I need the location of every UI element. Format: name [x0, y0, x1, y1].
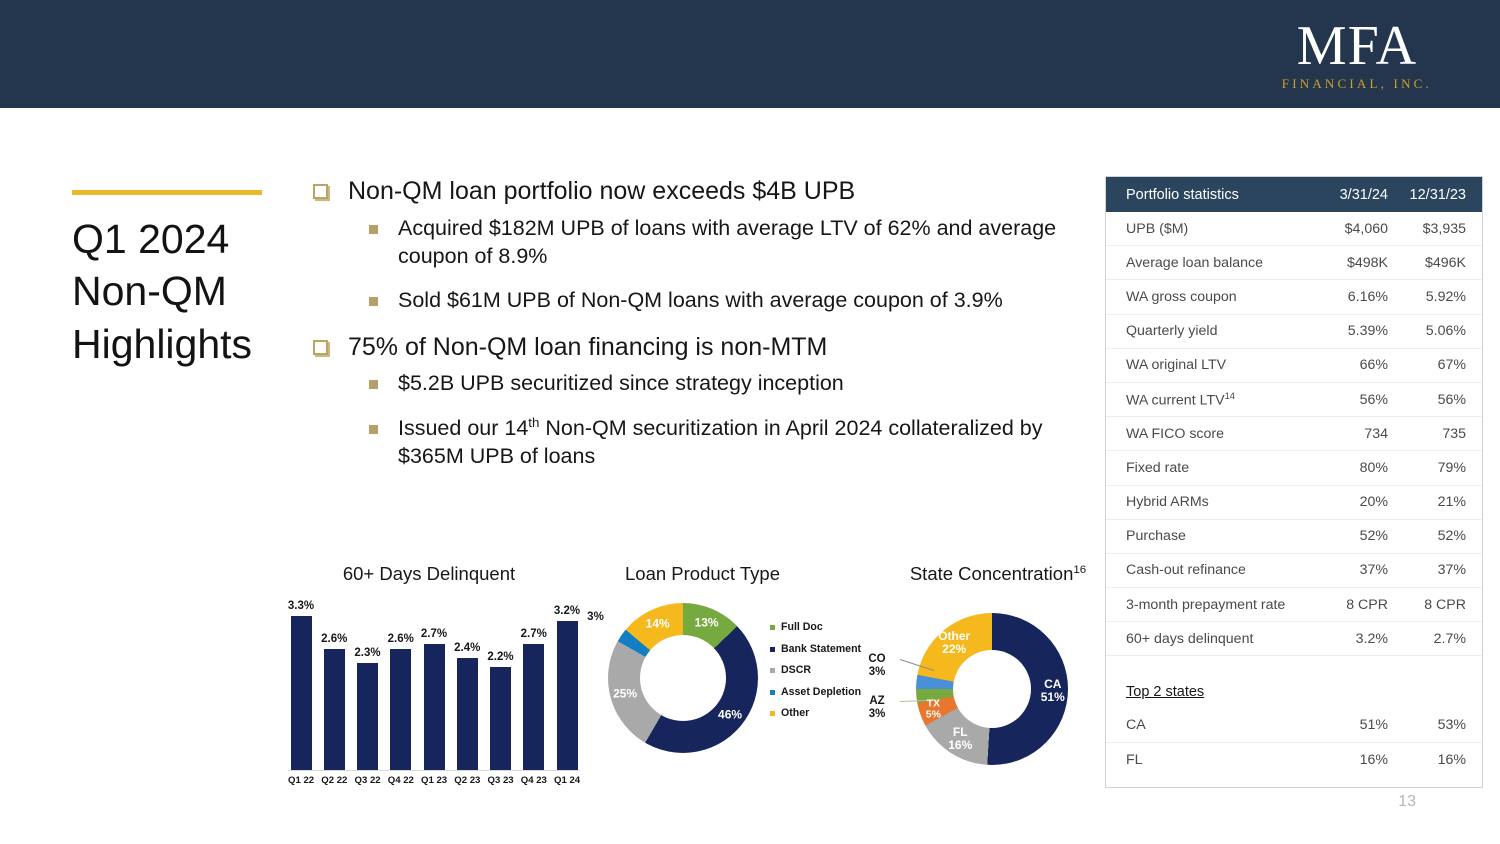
table-section-header: Top 2 states	[1106, 676, 1482, 708]
x-axis-tick-label: Q4 22	[388, 775, 414, 786]
row-value-prior: $496K	[1388, 255, 1466, 271]
row-label: 60+ days delinquent	[1126, 631, 1310, 647]
sub-bullet-group: Acquired $182M UPB of loans with average…	[369, 214, 1073, 315]
donut-slice-label: 46%	[718, 709, 742, 722]
row-value-current: $4,060	[1310, 221, 1388, 237]
legend-swatch-icon	[770, 625, 775, 630]
table-row: 3-month prepayment rate8 CPR8 CPR	[1106, 588, 1482, 622]
slide-root: MFA FINANCIAL, INC. Q1 2024 Non-QM Highl…	[0, 0, 1500, 844]
legend-label: DSCR	[781, 664, 811, 677]
row-value-prior: 53%	[1388, 717, 1466, 733]
row-value-prior: 52%	[1388, 528, 1466, 544]
table-header-row: Portfolio statistics 3/31/24 12/31/23	[1106, 177, 1482, 212]
table-header-label: Portfolio statistics	[1126, 187, 1310, 203]
donut-hole	[640, 635, 726, 721]
row-value-current: 80%	[1310, 460, 1388, 476]
table-row: WA gross coupon6.16%5.92%	[1106, 280, 1482, 314]
row-value-current: 20%	[1310, 494, 1388, 510]
table-row: Average loan balance$498K$496K	[1106, 246, 1482, 280]
page-title: Q1 2024 Non-QM Highlights	[72, 213, 302, 370]
x-axis-tick-label: Q1 23	[421, 775, 447, 786]
bar	[490, 667, 511, 770]
bar	[523, 644, 544, 770]
row-value-current: 16%	[1310, 752, 1388, 768]
row-value-current: 734	[1310, 426, 1388, 442]
bar-column: 3.3%	[288, 603, 314, 770]
table-header-col1: 3/31/24	[1310, 187, 1388, 203]
header-band	[0, 0, 1500, 108]
table-row: FL16%16%	[1106, 743, 1482, 777]
delinquency-bar-chart: 60+ Days Delinquent 3.3%2.6%2.3%2.6%2.7%…	[270, 555, 588, 805]
loan-product-type-chart: Loan Product Type Full DocBank Statement…	[590, 555, 880, 805]
donut-slice-label: 25%	[613, 687, 637, 700]
small-square-bullet-icon	[369, 297, 378, 306]
callout-co: CO3%	[858, 653, 896, 678]
bar-column: 2.7%	[421, 603, 447, 770]
row-value-prior: 5.06%	[1388, 323, 1466, 339]
row-label: Average loan balance	[1126, 255, 1310, 271]
table-row: WA current LTV1456%56%	[1106, 383, 1482, 417]
table-row: Quarterly yield5.39%5.06%	[1106, 315, 1482, 349]
issued-prefix: Issued our 14	[398, 416, 528, 440]
sub-bullet-item: Acquired $182M UPB of loans with average…	[369, 214, 1073, 271]
logo-tagline: FINANCIAL, INC.	[1282, 77, 1432, 90]
row-label: UPB ($M)	[1126, 221, 1310, 237]
x-axis-tick-label: Q3 23	[488, 775, 514, 786]
small-square-bullet-icon	[369, 380, 378, 389]
bar-chart-plot: 3.3%2.6%2.3%2.6%2.7%2.4%2.2%2.7%3.2%	[288, 603, 580, 771]
donut-slice-label: CA51%	[1041, 678, 1065, 704]
product-chart-title: Loan Product Type	[590, 563, 815, 585]
legend-swatch-icon	[770, 690, 775, 695]
x-axis-tick-label: Q2 22	[321, 775, 347, 786]
bar-chart-x-axis: Q1 22Q2 22Q3 22Q4 22Q1 23Q2 23Q3 23Q4 23…	[288, 775, 580, 786]
bar-column: 3.2%	[554, 603, 580, 770]
sub-bullet-group: $5.2B UPB securitized since strategy inc…	[369, 369, 1073, 470]
sub-bullet-item: $5.2B UPB securitized since strategy inc…	[369, 369, 1073, 397]
row-label: Purchase	[1126, 528, 1310, 544]
table-row: UPB ($M)$4,060$3,935	[1106, 212, 1482, 246]
bar-column: 2.6%	[321, 603, 347, 770]
row-value-current: 8 CPR	[1310, 597, 1388, 613]
donut-slice-label: Other22%	[938, 630, 970, 656]
row-value-prior: 67%	[1388, 357, 1466, 373]
small-square-bullet-icon	[369, 425, 378, 434]
table-row: Cash-out refinance37%37%	[1106, 554, 1482, 588]
section-label: Top 2 states	[1126, 684, 1466, 700]
legend-label: Bank Statement	[781, 643, 861, 656]
row-label: Quarterly yield	[1126, 323, 1310, 339]
row-value-prior: 2.7%	[1388, 631, 1466, 647]
row-value-prior: 5.92%	[1388, 289, 1466, 305]
donut-slice-label: 14%	[646, 617, 670, 630]
bar-value-label: 3.3%	[288, 600, 314, 612]
sub-bullet-text: Sold $61M UPB of Non-QM loans with avera…	[398, 286, 1003, 314]
page-title-line1: Q1 2024	[72, 213, 302, 265]
donut-slice-label: 3%	[587, 611, 604, 623]
row-label: WA current LTV14	[1126, 391, 1310, 409]
table-row: WA original LTV66%67%	[1106, 349, 1482, 383]
bar-value-label: 2.2%	[487, 651, 513, 663]
table-row: Purchase52%52%	[1106, 520, 1482, 554]
row-label: 3-month prepayment rate	[1126, 597, 1310, 613]
bar	[291, 616, 312, 770]
bar	[357, 663, 378, 770]
row-value-prior: 16%	[1388, 752, 1466, 768]
bar-column: 2.4%	[454, 603, 480, 770]
row-value-prior: 37%	[1388, 562, 1466, 578]
bar-value-label: 2.6%	[321, 633, 347, 645]
state-concentration-chart: State Concentration16 CO3% AZ3% CA51%FL1…	[870, 555, 1120, 805]
donut-slice-label: FL16%	[948, 726, 972, 752]
x-axis-tick-label: Q1 24	[554, 775, 580, 786]
row-label: FL	[1126, 752, 1310, 768]
sub-bullet-item: Issued our 14th Non-QM securitization in…	[369, 414, 1073, 471]
table-row: 60+ days delinquent3.2%2.7%	[1106, 622, 1482, 656]
bar-column: 2.6%	[388, 603, 414, 770]
portfolio-statistics-table: Portfolio statistics 3/31/24 12/31/23 UP…	[1105, 176, 1483, 788]
row-value-current: 66%	[1310, 357, 1388, 373]
state-chart-title-text: State Concentration	[910, 563, 1074, 584]
table-row: Hybrid ARMs20%21%	[1106, 486, 1482, 520]
page-number: 13	[1398, 793, 1416, 811]
state-chart-title: State Concentration16	[878, 563, 1118, 585]
legend-item: Full Doc	[770, 621, 875, 634]
bar-value-label: 2.4%	[454, 642, 480, 654]
bar	[424, 644, 445, 770]
state-chart-title-footnote: 16	[1073, 564, 1086, 576]
bar	[390, 649, 411, 770]
bar-value-label: 2.6%	[388, 633, 414, 645]
x-axis-tick-label: Q2 23	[454, 775, 480, 786]
table-header-col2: 12/31/23	[1388, 187, 1466, 203]
row-value-current: 56%	[1310, 392, 1388, 408]
legend-label: Asset Depletion	[781, 686, 861, 699]
bar-column: 2.3%	[355, 603, 381, 770]
bar-chart-title: 60+ Days Delinquent	[270, 563, 588, 585]
table-spacer	[1106, 656, 1482, 676]
square-bullet-icon	[313, 184, 328, 199]
small-square-bullet-icon	[369, 225, 378, 234]
row-value-current: 5.39%	[1310, 323, 1388, 339]
legend-label: Full Doc	[781, 621, 823, 634]
row-label: WA FICO score	[1126, 426, 1310, 442]
sub-bullet-text: Acquired $182M UPB of loans with average…	[398, 214, 1073, 271]
bullet-item: 75% of Non-QM loan financing is non-MTM	[313, 331, 1073, 364]
bar-value-label: 2.3%	[354, 647, 380, 659]
product-donut	[608, 603, 758, 753]
row-label: Hybrid ARMs	[1126, 494, 1310, 510]
row-value-prior: 79%	[1388, 460, 1466, 476]
bar	[557, 621, 578, 770]
row-value-current: $498K	[1310, 255, 1388, 271]
bar-value-label: 2.7%	[421, 628, 447, 640]
mfa-logo: MFA FINANCIAL, INC.	[1282, 18, 1432, 90]
row-label: Cash-out refinance	[1126, 562, 1310, 578]
row-value-prior: 8 CPR	[1388, 597, 1466, 613]
row-value-prior: 56%	[1388, 392, 1466, 408]
row-label: WA gross coupon	[1126, 289, 1310, 305]
title-accent-rule	[72, 190, 262, 195]
row-label: Fixed rate	[1126, 460, 1310, 476]
callout-az: AZ3%	[858, 695, 896, 720]
bullet-item: Non-QM loan portfolio now exceeds $4B UP…	[313, 175, 1073, 208]
donut-slice-label: 13%	[695, 616, 719, 629]
bar-value-label: 3.2%	[554, 605, 580, 617]
square-bullet-icon	[313, 340, 328, 355]
row-value-current: 6.16%	[1310, 289, 1388, 305]
bullet-text: Non-QM loan portfolio now exceeds $4B UP…	[348, 175, 855, 208]
logo-wordmark: MFA	[1282, 18, 1432, 74]
row-label: WA original LTV	[1126, 357, 1310, 373]
x-axis-tick-label: Q3 22	[355, 775, 381, 786]
legend-swatch-icon	[770, 711, 775, 716]
row-value-current: 52%	[1310, 528, 1388, 544]
bar-value-label: 2.7%	[521, 628, 547, 640]
page-title-line2: Non-QM	[72, 265, 302, 317]
table-row: CA51%53%	[1106, 708, 1482, 742]
x-axis-tick-label: Q4 23	[521, 775, 547, 786]
ordinal-suffix: th	[528, 415, 539, 430]
donut-hole	[953, 650, 1031, 728]
row-value-current: 37%	[1310, 562, 1388, 578]
legend-swatch-icon	[770, 668, 775, 673]
sub-bullet-item: Sold $61M UPB of Non-QM loans with avera…	[369, 286, 1073, 314]
bar-column: 2.7%	[521, 603, 547, 770]
page-title-line3: Highlights	[72, 318, 302, 370]
bar-column: 2.2%	[488, 603, 514, 770]
legend-swatch-icon	[770, 647, 775, 652]
bullet-list: Non-QM loan portfolio now exceeds $4B UP…	[313, 175, 1073, 486]
row-value-prior: 735	[1388, 426, 1466, 442]
row-label: CA	[1126, 717, 1310, 733]
table-row: Fixed rate80%79%	[1106, 451, 1482, 485]
legend-label: Other	[781, 707, 809, 720]
table-body: UPB ($M)$4,060$3,935Average loan balance…	[1106, 212, 1482, 777]
sub-bullet-text-superscript: Issued our 14th Non-QM securitization in…	[398, 414, 1073, 471]
bar	[324, 649, 345, 770]
table-row: WA FICO score734735	[1106, 417, 1482, 451]
bar	[457, 658, 478, 770]
bullet-text: 75% of Non-QM loan financing is non-MTM	[348, 331, 827, 364]
row-value-current: 3.2%	[1310, 631, 1388, 647]
sub-bullet-text: $5.2B UPB securitized since strategy inc…	[398, 369, 844, 397]
row-value-prior: $3,935	[1388, 221, 1466, 237]
donut-slice-label: TX5%	[926, 699, 941, 722]
row-value-current: 51%	[1310, 717, 1388, 733]
x-axis-tick-label: Q1 22	[288, 775, 314, 786]
row-value-prior: 21%	[1388, 494, 1466, 510]
